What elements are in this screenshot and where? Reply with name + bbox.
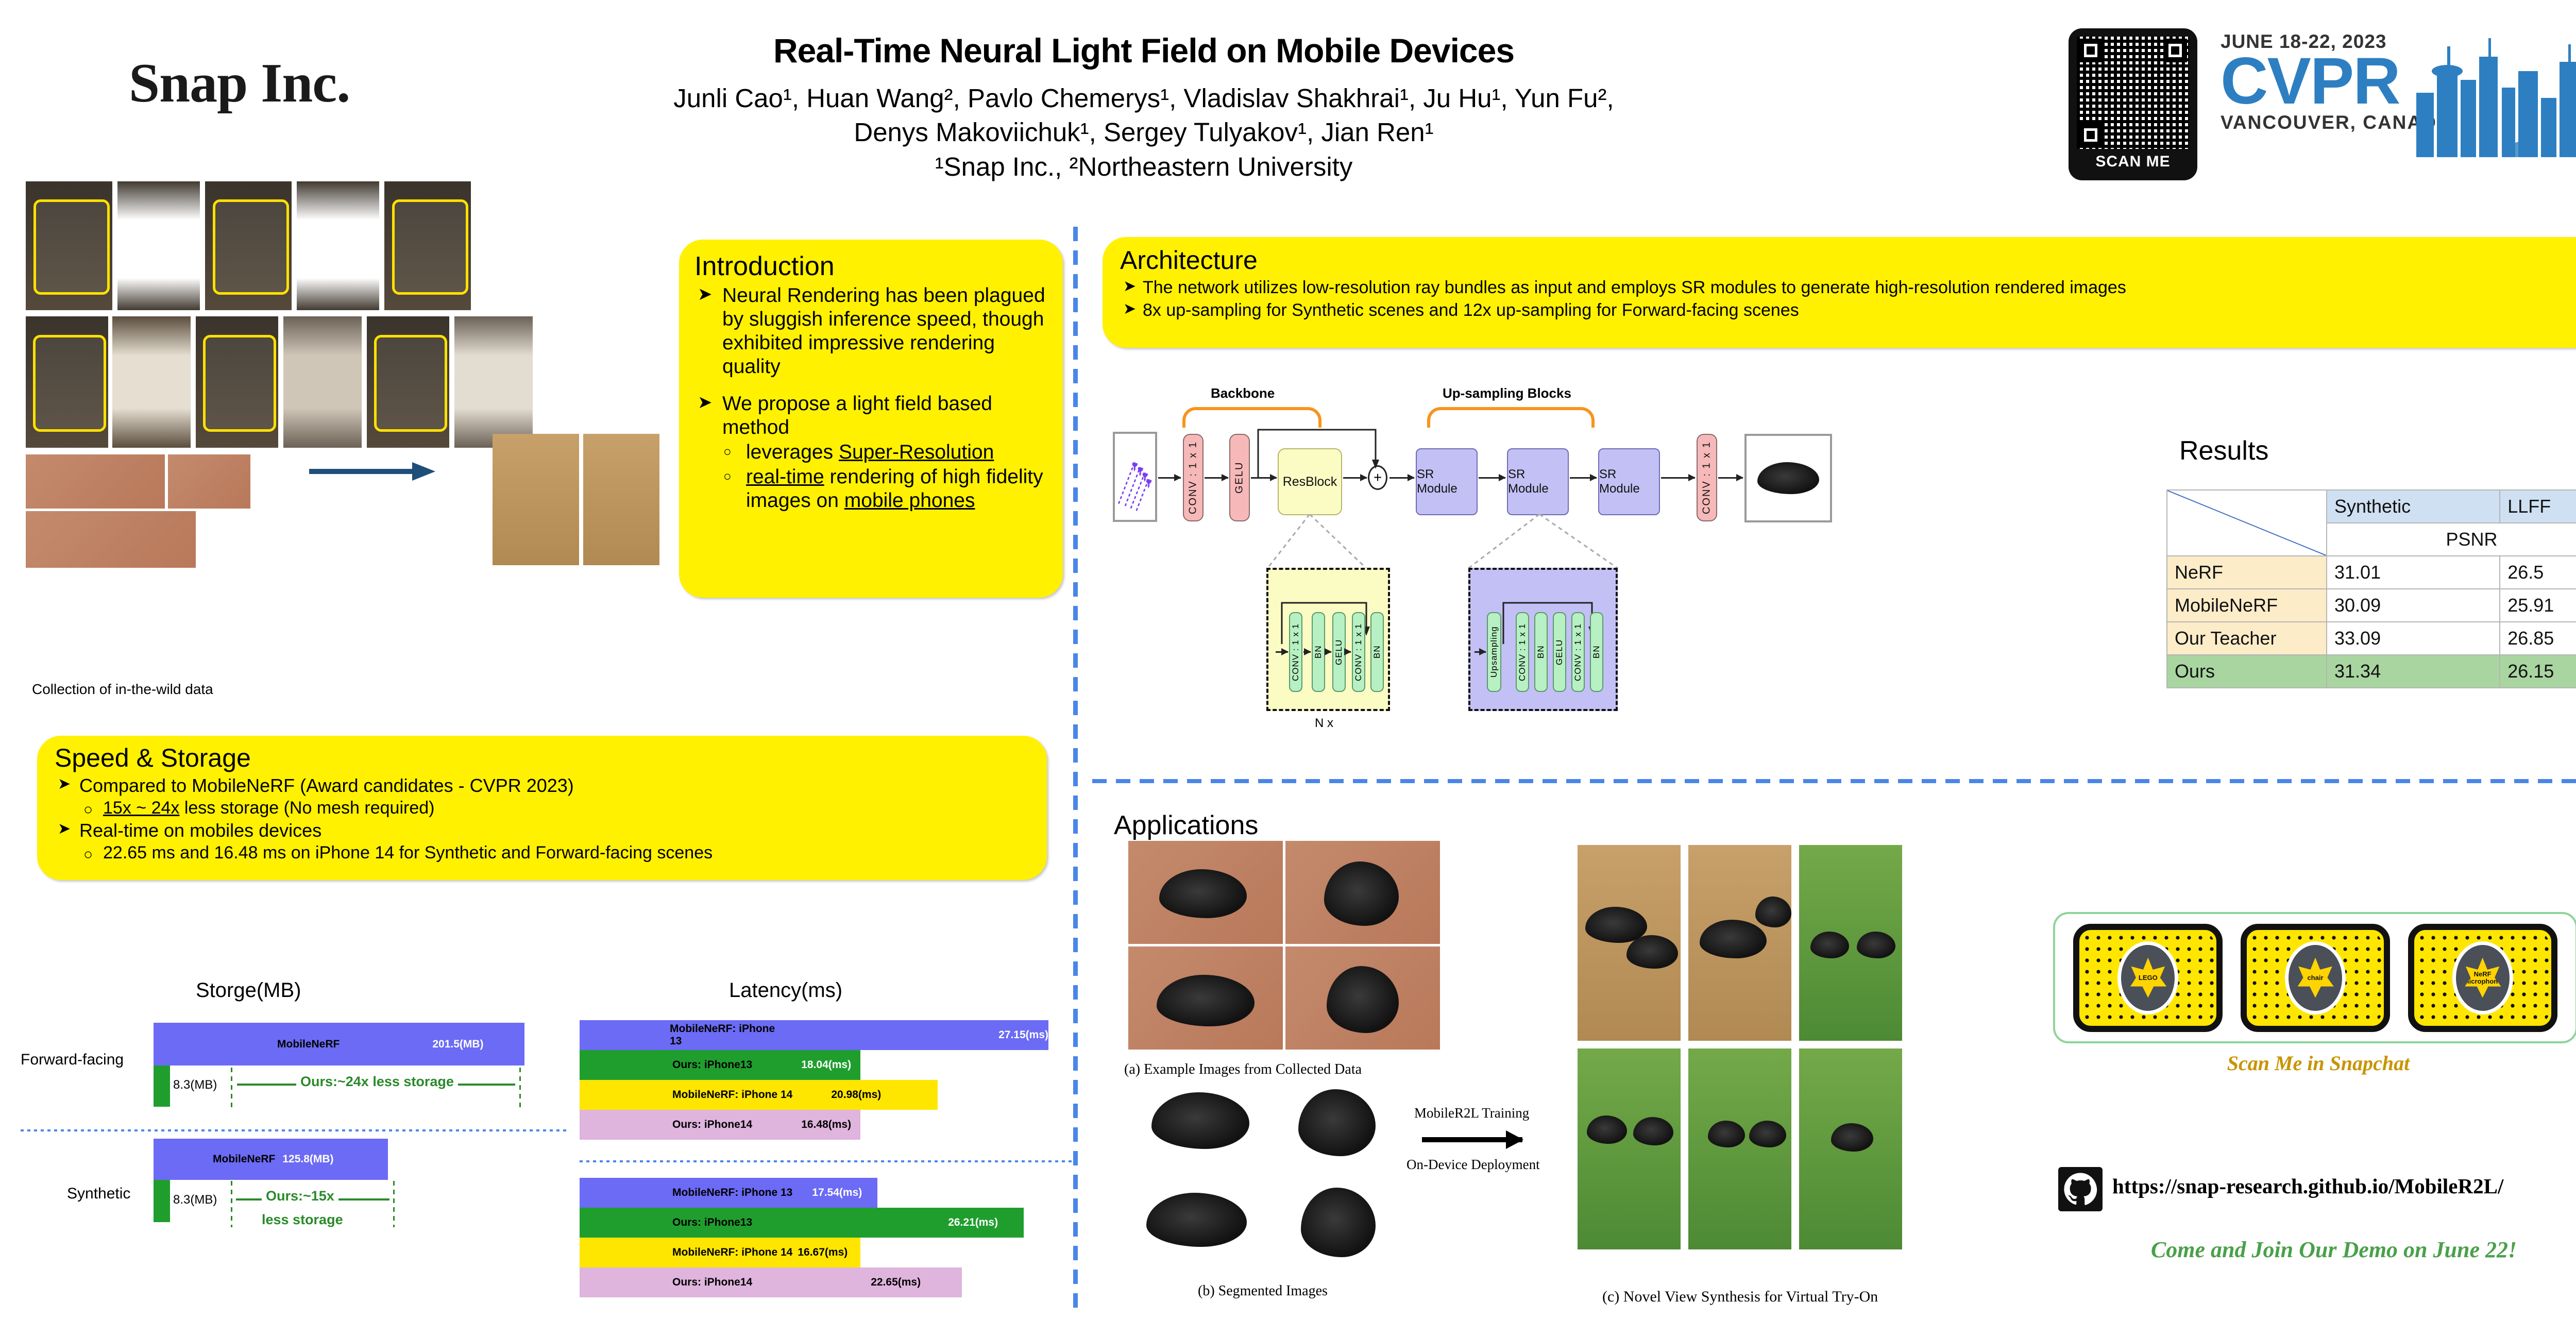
caption-c: (c) Novel View Synthesis for Virtual Try… [1602,1288,1878,1306]
sr-upsampling: Upsampling [1487,612,1501,692]
storage-group-label-synthetic: Synthetic [67,1185,130,1203]
sr-module-1: SR Module [1416,448,1478,515]
table-header-llff: LLFF [2500,490,2576,523]
table-metric-psnr: PSNR [2327,523,2576,556]
storage-annotation-synthetic-1: Ours:~15x [262,1188,338,1204]
gelu-block: GELU [1229,434,1250,521]
cell-nerf-llff: 26.5 [2500,556,2576,589]
srblock-leader [1468,514,1685,571]
latency-bar-ff-ours-13: Ours: iPhone13 18.04(ms) [580,1050,860,1080]
storage-bar-synthetic-ours [154,1180,170,1222]
sr-module-2: SR Module [1507,448,1569,515]
architecture-bullet-1: The network utilizes low-resolution ray … [1120,277,2576,298]
cell-ours-synthetic: 31.34 [2327,655,2500,688]
demo-photo-grid [26,181,659,542]
resblock-bn1: BN [1312,612,1325,692]
speed-sub-1: 15x ~ 24x less storage (No mesh required… [55,798,1029,818]
resblock-conv1: CONV : 1 x 1 [1289,612,1302,692]
applications-novel-view-grid [1578,845,1928,1257]
resblock-detail-card: CONV : 1 x 1 BN GELU CONV : 1 x 1 BN [1266,568,1390,711]
latency-bar-chart: Latency(ms) MobileNeRF: iPhone 13 27.15(… [580,979,1074,1267]
row-label-mobilenerf: MobileNeRF [2167,589,2327,622]
architecture-heading: Architecture [1120,245,2576,275]
cell-teacher-llff: 26.85 [2500,622,2576,655]
cell-mobilenerf-synthetic: 30.09 [2327,589,2500,622]
snap-inc-logo: Snap Inc. [129,52,350,115]
table-row: Ours 31.34 26.15 [2167,655,2576,688]
github-icon [2058,1167,2103,1211]
pipeline-arrow-icon [309,456,438,487]
horizontal-divider [1092,779,2576,783]
speed-bullet-2: Real-time on mobiles devices [55,820,1029,841]
snapcode-card[interactable]: LEGO chair NeRF Microphone [2053,912,2576,1043]
cell-mobilenerf-llff: 25.91 [2500,589,2576,622]
training-arrow-label-bottom: On-Device Deployment [1406,1157,1540,1173]
github-url-link[interactable]: https://snap-research.github.io/MobileR2… [2112,1174,2503,1198]
resblock-conv2: CONV : 1 x 1 [1352,612,1365,692]
upsampling-label: Up-sampling Blocks [1443,385,1571,401]
snapcode-lego[interactable]: LEGO [2073,924,2223,1032]
cell-teacher-synthetic: 33.09 [2327,622,2500,655]
row-label-our-teacher: Our Teacher [2167,622,2327,655]
introduction-sub-2: real-time rendering of high fidelity ima… [694,465,1047,513]
sr-conv2: CONV : 1 x 1 [1571,612,1585,692]
table-row: MobileNeRF 30.09 25.91 [2167,589,2576,622]
caption-b: (b) Segmented Images [1198,1283,1328,1299]
latency-bar-syn-ours-13: Ours: iPhone13 26.21(ms) [580,1208,1024,1238]
latency-chart-title: Latency(ms) [729,979,842,1002]
table-row: Our Teacher 33.09 26.85 [2167,622,2576,655]
latency-bar-syn-ours-14: Ours: iPhone14 22.65(ms) [580,1267,962,1297]
introduction-heading: Introduction [694,251,1047,282]
latency-bar-syn-mobilenerf-13: MobileNeRF: iPhone 13 17.54(ms) [580,1178,877,1208]
resblock-bn2: BN [1370,612,1384,692]
results-heading: Results [2179,435,2268,466]
training-arrow-icon [1422,1137,1522,1142]
speed-sub-2: 22.65 ms and 16.48 ms on iPhone 14 for S… [55,842,1029,863]
rendered-output-image [1744,434,1832,522]
page-title: Real-Time Neural Light Field on Mobile D… [531,31,1757,70]
cell-ours-llff: 26.15 [2500,655,2576,688]
cell-nerf-synthetic: 31.01 [2327,556,2500,589]
row-label-ours: Ours [2167,655,2327,688]
demo-invitation-text: Come and Join Our Demo on June 22! [2056,1237,2576,1263]
storage-group-label-forward: Forward-facing [21,1051,124,1069]
latency-bar-ff-ours-14: Ours: iPhone14 16.48(ms) [580,1110,860,1140]
affiliations: ¹Snap Inc., ²Northeastern University [531,150,1757,184]
introduction-panel: Introduction Neural Rendering has been p… [679,240,1063,598]
snapcode-chair[interactable]: chair [2241,924,2390,1032]
conv-out-block: CONV : 1 x 1 [1697,434,1717,521]
introduction-sub-1: leverages Super-Resolution [694,441,1047,464]
skip-connection [1256,426,1385,480]
table-corner-cell [2167,490,2327,556]
latency-bar-ff-mobilenerf-14: MobileNeRF: iPhone 14 20.98(ms) [580,1080,938,1110]
ray-bundle-input [1113,432,1157,522]
storage-bar-forward-mobilenerf: MobileNeRF 201.5(MB) [154,1023,524,1066]
storage-value-synthetic-ours: 8.3(MB) [173,1193,217,1207]
authors-line-1: Junli Cao¹, Huan Wang², Pavlo Chemerys¹,… [531,81,1757,115]
storage-bar-chart: Storge(MB) Forward-facing MobileNeRF 201… [21,979,567,1267]
storage-bar-forward-ours [154,1066,170,1107]
caption-a: (a) Example Images from Collected Data [1124,1061,1362,1078]
srblock-detail-card: Upsampling CONV : 1 x 1 BN GELU CONV : 1… [1468,568,1618,711]
sr-module-3: SR Module [1598,448,1660,515]
qr-code-card[interactable]: SCAN ME [2069,28,2197,180]
speed-bullet-1: Compared to MobileNeRF (Award candidates… [55,775,1029,797]
sr-gelu: GELU [1553,612,1566,692]
snapcode-nerf-microphone[interactable]: NeRF Microphone [2408,924,2557,1032]
scan-me-label: SCAN ME [2095,153,2170,171]
sr-bn2: BN [1590,612,1603,692]
table-header-synthetic: Synthetic [2327,490,2500,523]
storage-annotation-forward: Ours:~24x less storage [296,1074,458,1090]
results-table: Synthetic LLFF PSNR NeRF 31.01 26.5 Mobi… [2166,489,2576,688]
architecture-bullet-2: 8x up-sampling for Synthetic scenes and … [1120,300,2576,320]
conv-in-block: CONV : 1 x 1 [1183,434,1204,521]
architecture-panel: Architecture The network utilizes low-re… [1103,237,2576,348]
sr-bn1: BN [1534,612,1548,692]
speed-storage-heading: Speed & Storage [55,743,1029,773]
storage-chart-title: Storge(MB) [196,979,301,1002]
applications-segmented-images [1136,1087,1445,1278]
backbone-label: Backbone [1211,385,1275,401]
speed-storage-panel: Speed & Storage Compared to MobileNeRF (… [37,736,1047,880]
table-row: NeRF 31.01 26.5 [2167,556,2576,589]
qr-code-icon [2077,37,2189,149]
storage-annotation-synthetic-2: less storage [262,1212,343,1228]
introduction-bullet-1: Neural Rendering has been plagued by slu… [694,284,1047,379]
title-block: Real-Time Neural Light Field on Mobile D… [531,31,1757,184]
latency-bar-syn-mobilenerf-14: MobileNeRF: iPhone 14 16.67(ms) [580,1238,860,1267]
introduction-bullet-2: We propose a light field based method [694,392,1047,439]
vancouver-skyline-icon [2401,31,2576,157]
training-arrow-label-top: MobileR2L Training [1414,1105,1529,1121]
applications-example-images [1128,841,1443,1053]
collection-caption: Collection of in-the-wild data [32,681,213,698]
latency-bar-ff-mobilenerf-13: MobileNeRF: iPhone 13 27.15(ms) [580,1020,1048,1050]
upsampling-brace [1427,407,1595,428]
sr-conv1: CONV : 1 x 1 [1516,612,1529,692]
authors-line-2: Denys Makoviichuk¹, Sergey Tulyakov¹, Ji… [531,115,1757,149]
storage-bar-synthetic-mobilenerf: MobileNeRF 125.8(MB) [154,1139,388,1180]
storage-value-forward-ours: 8.3(MB) [173,1078,217,1092]
backbone-brace [1182,407,1321,428]
row-label-nerf: NeRF [2167,556,2327,589]
nx-label: N x [1315,716,1333,731]
resblock-leader [1267,514,1437,571]
scan-me-snapchat-caption: Scan Me in Snapchat [2164,1051,2473,1075]
architecture-diagram: Backbone Up-sampling Blocks CONV : 1 x 1… [1113,376,2143,757]
applications-heading: Applications [1114,810,1258,841]
